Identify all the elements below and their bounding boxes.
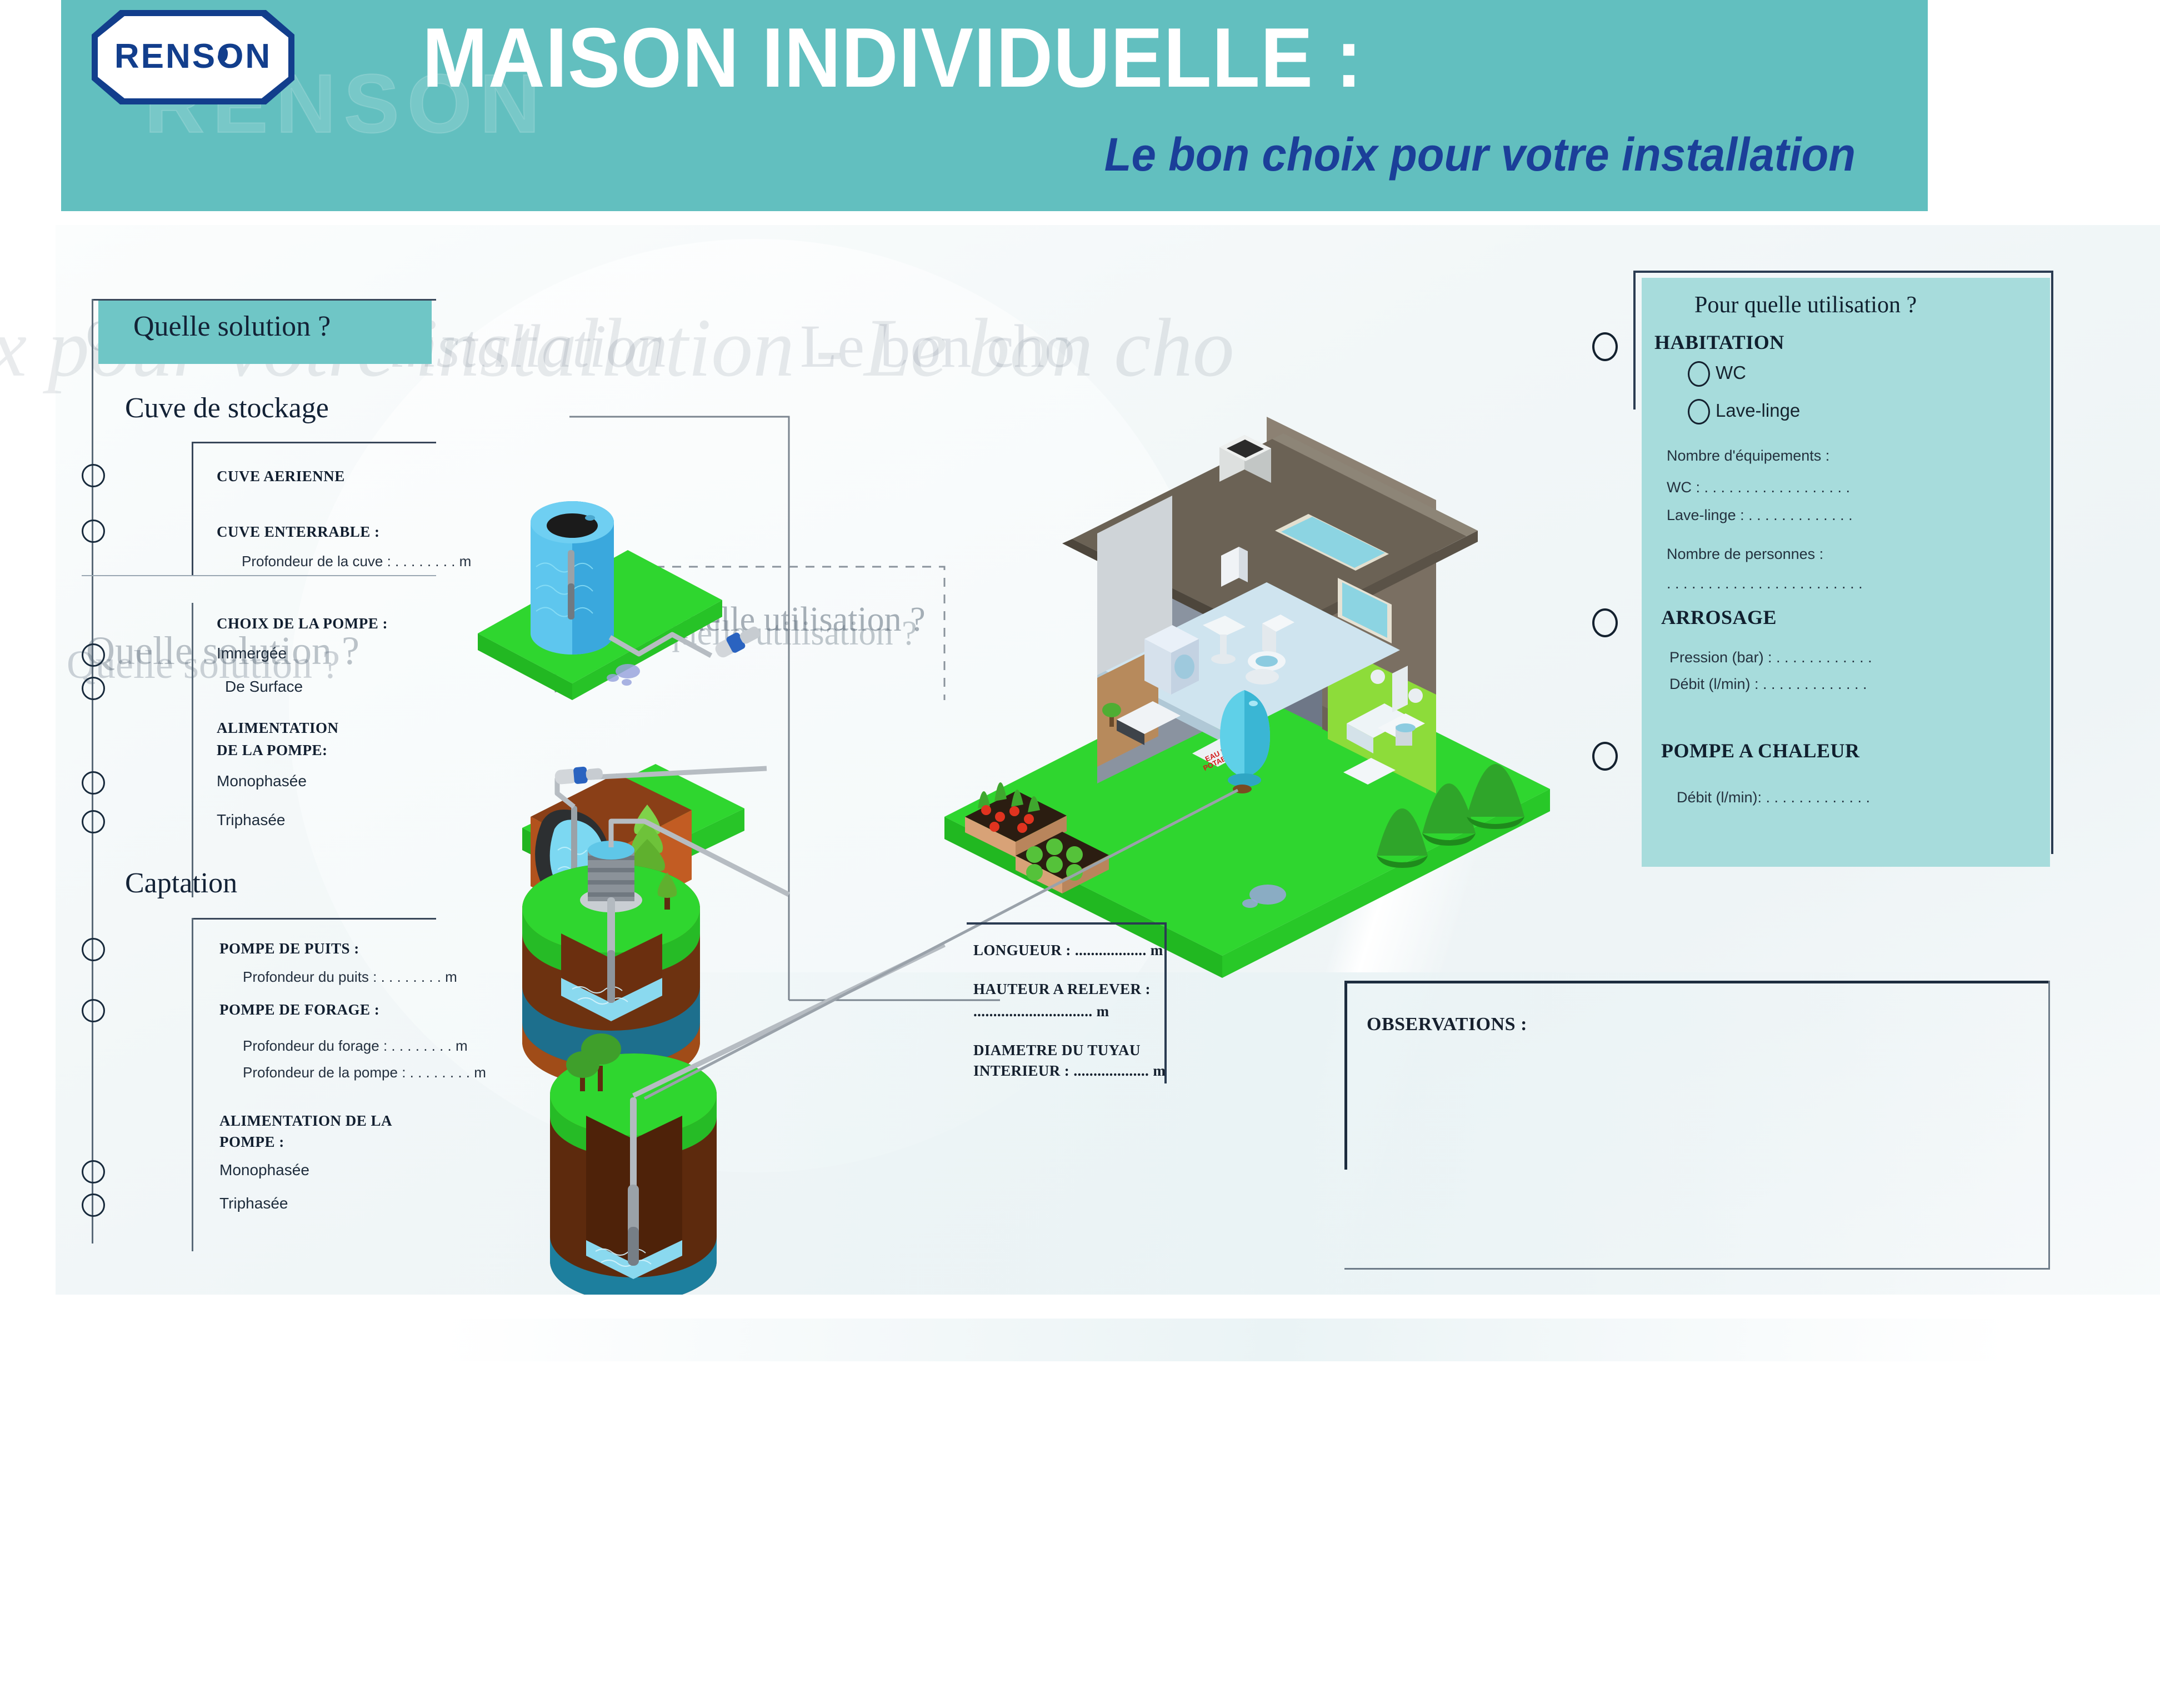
left-panel-heading: Quelle solution ? [133, 310, 331, 343]
logo-wordmark: RENSON [92, 37, 294, 76]
section-heading-choix-de-la-pompe: CHOIX DE LA POMPE : [217, 615, 388, 632]
label-monophasee-captation: Monophasée [219, 1161, 309, 1179]
section-rule-1-bottom [82, 575, 436, 576]
label-triphasee-captation: Triphasée [219, 1195, 288, 1212]
label-pompe-de-forage: POMPE DE FORAGE : [219, 1001, 379, 1018]
right-panel-right-rule [2051, 271, 2053, 854]
label-alimentation-pompe-captation-2: POMPE : [219, 1133, 284, 1151]
field-pression-bar[interactable]: Pression (bar) : . . . . . . . . . . . . [1669, 649, 1872, 666]
right-panel-left-rule [1633, 271, 1636, 409]
field-profondeur-cuve[interactable]: Profondeur de la cuve : . . . . . . . . … [242, 553, 471, 570]
field-nombre-personnes[interactable]: . . . . . . . . . . . . . . . . . . . . … [1667, 575, 1863, 592]
spec-box-top-rule [967, 922, 1167, 925]
label-cuve-aerienne: CUVE AERIENNE [217, 468, 345, 485]
radio-cuve-aerienne[interactable] [82, 464, 105, 487]
aerial-storage-tank-illustration [478, 501, 763, 700]
radio-immergee[interactable] [82, 643, 105, 667]
label-lave-linge: Lave-linge [1716, 400, 1800, 421]
observations-left-rule [1344, 981, 1347, 1170]
right-panel-top-rule [1633, 271, 2053, 273]
left-panel-top-rule [92, 299, 436, 301]
section-heading-captation: Captation [125, 867, 237, 900]
label-pompe-de-puits: POMPE DE PUITS : [219, 940, 359, 957]
field-lave-linge-count[interactable]: Lave-linge : . . . . . . . . . . . . . [1667, 507, 1853, 524]
label-de-surface: De Surface [225, 678, 303, 696]
spec-box-right-rule [1164, 922, 1167, 1083]
page-title: MAISON INDIVIDUELLE : [422, 14, 1755, 103]
label-alimentation-pompe-captation-1: ALIMENTATION DE LA [219, 1112, 392, 1130]
label-nombre-personnes: Nombre de personnes : [1667, 546, 1823, 563]
observations-top-rule [1344, 981, 2050, 983]
radio-de-surface[interactable] [82, 677, 105, 700]
page-subtitle: Le bon choix pour votre installation [494, 128, 1856, 182]
observations-label: OBSERVATIONS : [1367, 1014, 1527, 1035]
label-triphasee-pompe: Triphasée [217, 811, 285, 829]
field-profondeur-pompe[interactable]: Profondeur de la pompe : . . . . . . . .… [243, 1064, 486, 1081]
left-panel: Quelle solution ? Cuve de stockage CUVE … [92, 294, 514, 1250]
section-rule-1 [192, 442, 436, 443]
radio-pompe-a-chaleur[interactable] [1592, 742, 1618, 771]
field-longueur[interactable]: LONGUEUR : .................. m [973, 942, 1163, 959]
field-diametre-interieur[interactable]: INTERIEUR : ................... m [973, 1062, 1166, 1080]
label-cuve-enterrable: CUVE ENTERRABLE : [217, 523, 380, 541]
label-diametre-tuyau: DIAMETRE DU TUYAU [973, 1042, 1141, 1059]
observations-bottom-rule [1344, 1268, 2050, 1270]
radio-monophasee-captation[interactable] [82, 1160, 105, 1183]
label-monophasee-pompe: Monophasée [217, 772, 307, 790]
radio-triphasee-captation[interactable] [82, 1193, 105, 1217]
label-wc: WC [1716, 362, 1746, 383]
label-habitation: HABITATION [1654, 331, 1784, 354]
field-debit-pompe-chaleur[interactable]: Débit (l/min): . . . . . . . . . . . . . [1677, 789, 1870, 806]
label-immergee: Immergée [217, 645, 287, 662]
section-vrule-1 [192, 442, 193, 575]
field-profondeur-forage[interactable]: Profondeur du forage : . . . . . . . . m [243, 1037, 468, 1055]
radio-pompe-de-puits[interactable] [82, 938, 105, 961]
section-rule-3 [192, 918, 436, 920]
label-de-la-pompe: DE LA POMPE: [217, 742, 328, 759]
observations-right-rule [2048, 981, 2050, 1270]
label-arrosage: ARROSAGE [1661, 606, 1777, 629]
bottom-margin [0, 1295, 2160, 1319]
radio-wc[interactable] [1688, 361, 1710, 387]
radio-triphasee-pompe[interactable] [82, 810, 105, 833]
radio-lave-linge[interactable] [1688, 399, 1710, 424]
right-panel-title: Pour quelle utilisation ? [1694, 292, 1917, 318]
label-hauteur-relever: HAUTEUR A RELEVER : [973, 981, 1151, 998]
section-heading-cuve-de-stockage: Cuve de stockage [125, 392, 329, 424]
observations-box[interactable]: OBSERVATIONS : [1344, 981, 2050, 1270]
section-vrule-3 [192, 918, 193, 1251]
radio-habitation[interactable] [1592, 332, 1618, 361]
radio-cuve-enterrable[interactable] [82, 520, 105, 543]
field-hauteur-relever[interactable]: .............................. m [973, 1003, 1109, 1020]
renson-logo: RENSON [92, 10, 294, 104]
label-nombre-equipements: Nombre d'équipements : [1667, 447, 1829, 465]
label-alimentation: ALIMENTATION [217, 720, 339, 737]
field-wc-count[interactable]: WC : . . . . . . . . . . . . . . . . . . [1667, 479, 1850, 496]
radio-arrosage[interactable] [1592, 608, 1618, 637]
section-vrule-2 [192, 603, 193, 897]
field-debit-arrosage[interactable]: Débit (l/min) : . . . . . . . . . . . . … [1669, 676, 1867, 693]
radio-monophasee-pompe[interactable] [82, 771, 105, 795]
pipe-spec-box: LONGUEUR : .................. m HAUTEUR … [967, 922, 1167, 1083]
field-profondeur-puits[interactable]: Profondeur du puits : . . . . . . . . m [243, 968, 457, 986]
label-pompe-a-chaleur: POMPE A CHALEUR [1661, 739, 1860, 762]
radio-pompe-de-forage[interactable] [82, 999, 105, 1022]
